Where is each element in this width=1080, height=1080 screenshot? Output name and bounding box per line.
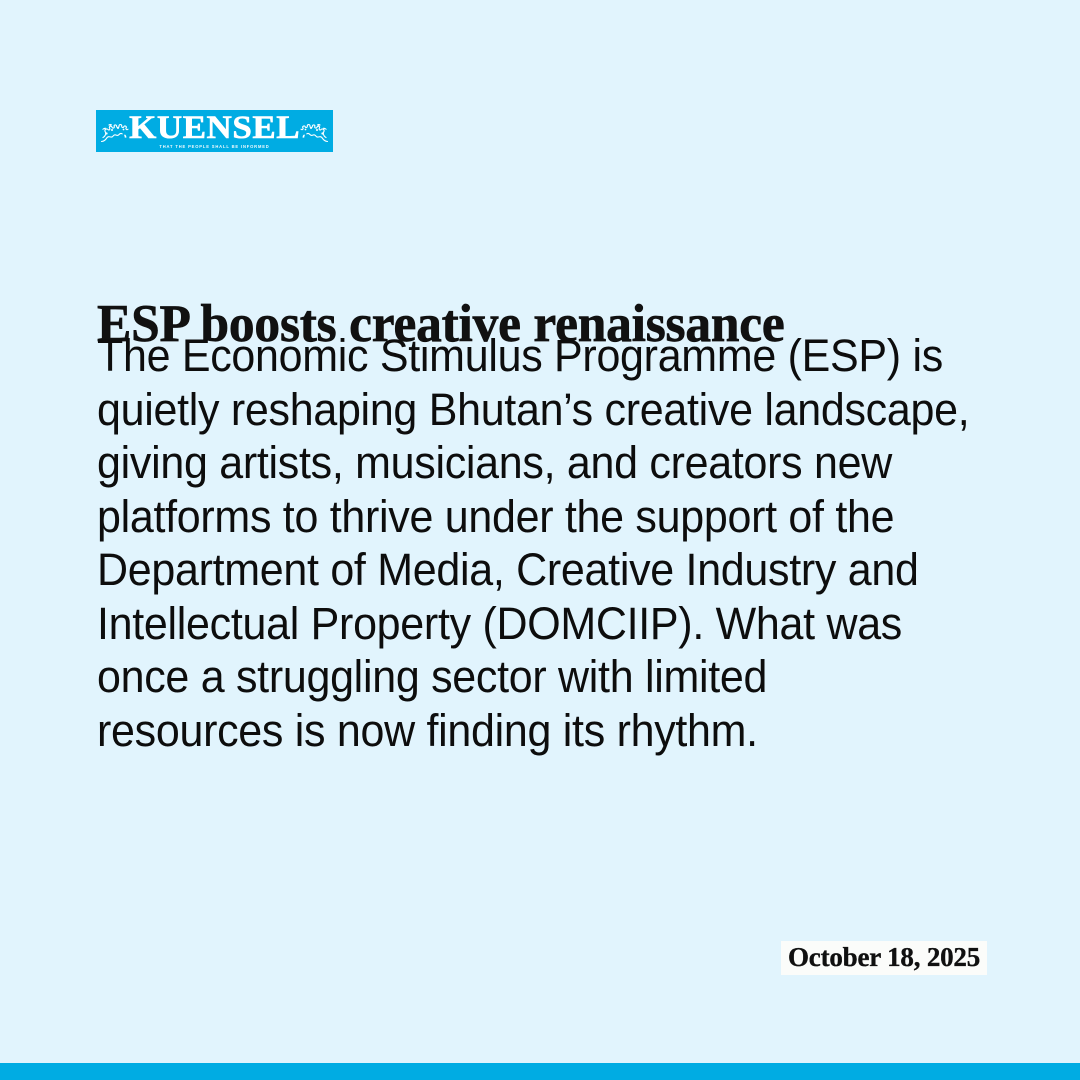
article-body-line: quietly reshaping Bhutan’s creative land…: [97, 383, 962, 437]
dragon-emblem-right-icon: [300, 117, 330, 145]
bottom-accent-bar: [0, 1063, 1080, 1080]
masthead-wordmark-block: KUENSEL THAT THE PEOPLE SHALL BE INFORME…: [134, 113, 295, 149]
masthead-inner: KUENSEL THAT THE PEOPLE SHALL BE INFORME…: [96, 110, 333, 152]
article-body-line: resources is now finding its rhythm.: [97, 704, 962, 758]
masthead-wordmark: KUENSEL: [129, 113, 300, 144]
article-body-line: giving artists, musicians, and creators …: [97, 436, 962, 490]
article-body: The Economic Stimulus Programme (ESP) is…: [97, 329, 962, 757]
article-body-line: platforms to thrive under the support of…: [97, 490, 962, 544]
publication-date-badge: October 18, 2025: [781, 941, 987, 975]
dragon-emblem-left-icon: [99, 117, 129, 145]
article-body-line: once a struggling sector with limited: [97, 650, 962, 704]
article-body-line: The Economic Stimulus Programme (ESP) is: [97, 329, 962, 383]
article-body-line: Intellectual Property (DOMCIIP). What wa…: [97, 597, 962, 651]
kuensel-masthead-logo[interactable]: KUENSEL THAT THE PEOPLE SHALL BE INFORME…: [96, 110, 333, 152]
article-body-line: Department of Media, Creative Industry a…: [97, 543, 962, 597]
masthead-tagline: THAT THE PEOPLE SHALL BE INFORMED: [159, 145, 269, 149]
news-card: KUENSEL THAT THE PEOPLE SHALL BE INFORME…: [0, 0, 1080, 1080]
